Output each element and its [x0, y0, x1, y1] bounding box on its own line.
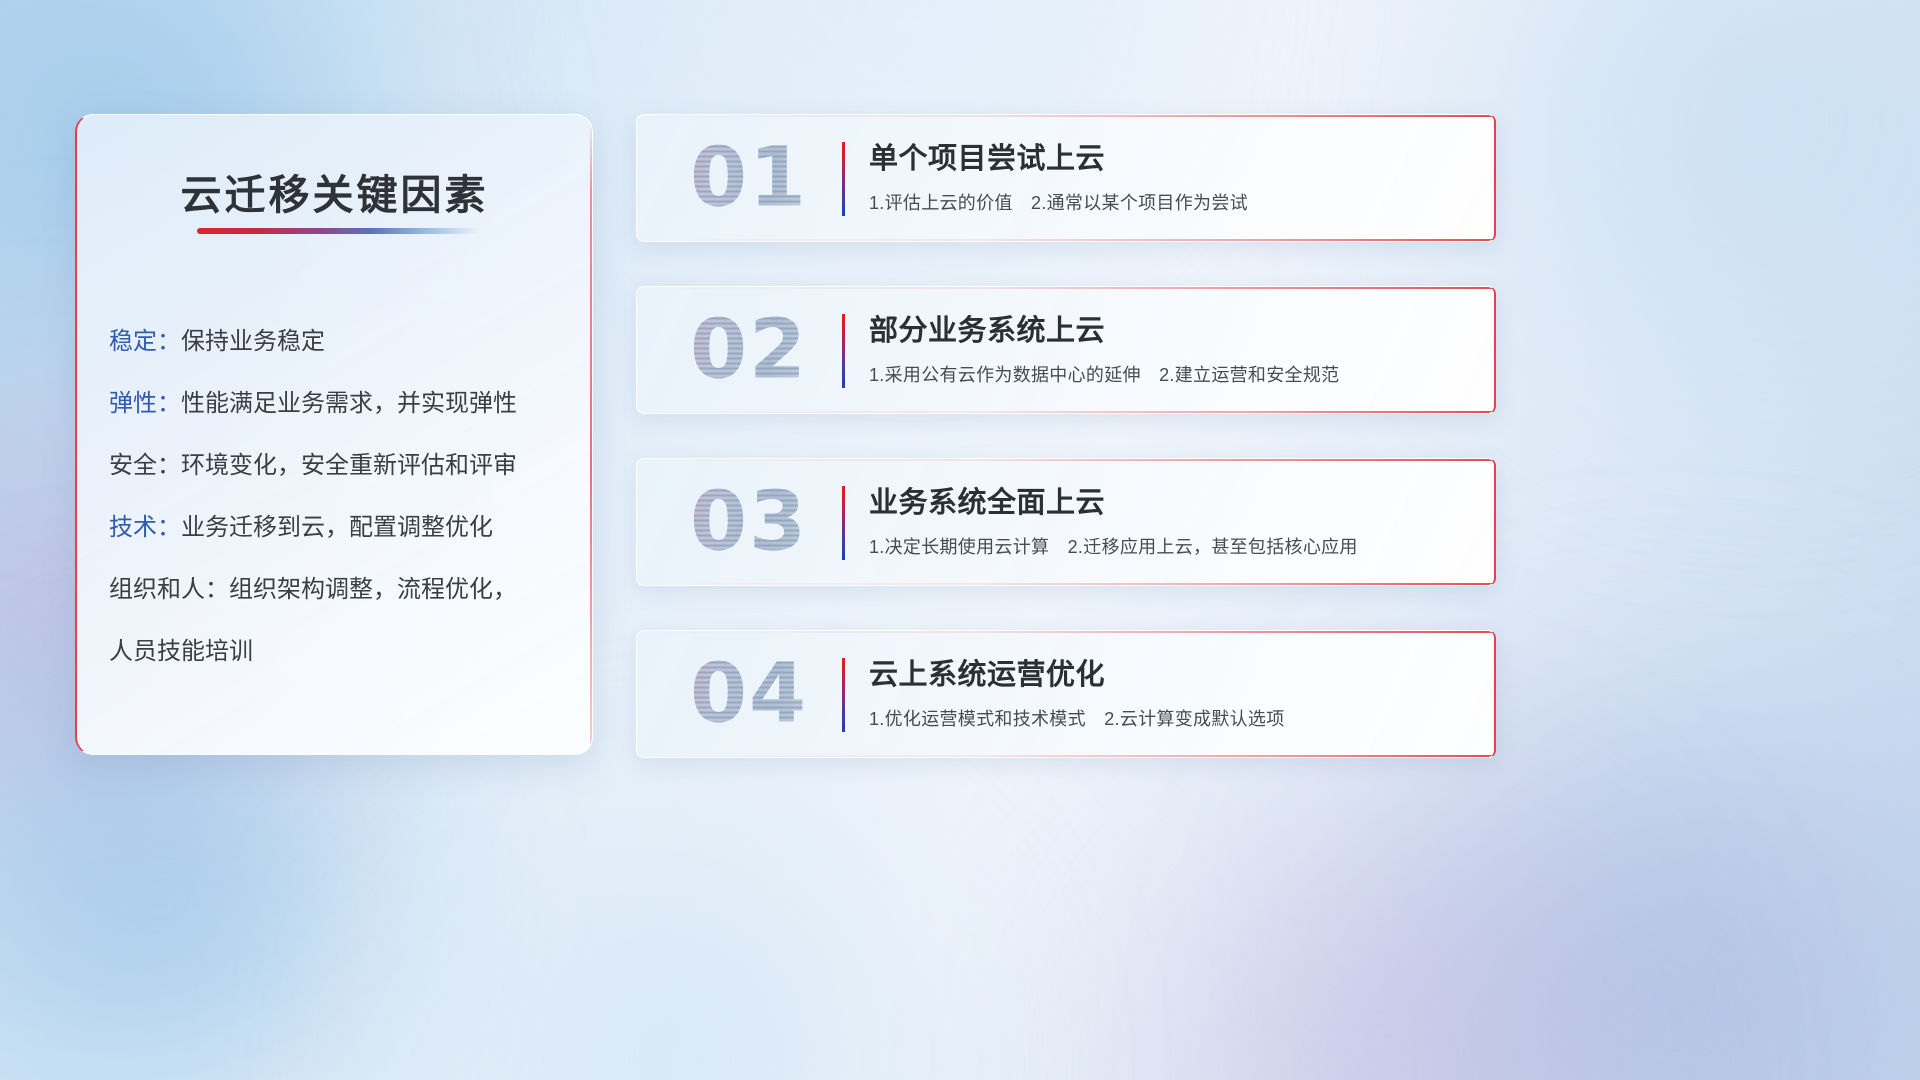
- stage-title: 云上系统运营优化: [869, 655, 1474, 695]
- stage-body: 云上系统运营优化 1.优化运营模式和技术模式 2.云计算变成默认选项: [869, 655, 1474, 731]
- stage-divider-accent: [842, 658, 845, 732]
- stage-description: 1.评估上云的价值 2.通常以某个项目作为尝试: [869, 189, 1474, 215]
- stage-body: 部分业务系统上云 1.采用公有云作为数据中心的延伸 2.建立运营和安全规范: [869, 311, 1474, 387]
- stage-card-02[interactable]: 02 部分业务系统上云 1.采用公有云作为数据中心的延伸 2.建立运营和安全规范: [636, 286, 1496, 414]
- slide-content: 云迁移关键因素 稳定：保持业务稳定 弹性：性能满足业务需求，并实现弹性 安全：环…: [0, 0, 1920, 1080]
- factor-text: 环境变化，安全重新评估和评审: [181, 452, 517, 479]
- stage-card-04[interactable]: 04 云上系统运营优化 1.优化运营模式和技术模式 2.云计算变成默认选项: [636, 630, 1496, 758]
- list-item: 安全：环境变化，安全重新评估和评审: [77, 435, 592, 497]
- key-factors-list: 稳定：保持业务稳定 弹性：性能满足业务需求，并实现弹性 安全：环境变化，安全重新…: [77, 311, 592, 683]
- page-title: 云迁移关键因素: [77, 161, 592, 221]
- factor-text: 人员技能培训: [109, 638, 253, 665]
- stage-divider-accent: [842, 314, 845, 388]
- stage-number: 02: [659, 303, 839, 398]
- title-underline-accent: [197, 228, 479, 234]
- stage-description: 1.决定长期使用云计算 2.迁移应用上云，甚至包括核心应用: [869, 533, 1474, 559]
- stage-number: 04: [659, 647, 839, 742]
- list-item-continuation: 人员技能培训: [77, 621, 592, 683]
- factor-text: 性能满足业务需求，并实现弹性: [181, 390, 517, 417]
- factor-label: 弹性：: [109, 390, 181, 417]
- stage-card-01[interactable]: 01 单个项目尝试上云 1.评估上云的价值 2.通常以某个项目作为尝试: [636, 114, 1496, 242]
- factor-label: 技术：: [109, 514, 181, 541]
- stage-divider-accent: [842, 142, 845, 216]
- stage-card-03[interactable]: 03 业务系统全面上云 1.决定长期使用云计算 2.迁移应用上云，甚至包括核心应…: [636, 458, 1496, 586]
- list-item: 稳定：保持业务稳定: [77, 311, 592, 373]
- stage-number: 03: [659, 475, 839, 570]
- stage-title: 单个项目尝试上云: [869, 139, 1474, 179]
- stage-description: 1.采用公有云作为数据中心的延伸 2.建立运营和安全规范: [869, 361, 1474, 387]
- factor-text: 保持业务稳定: [181, 328, 325, 355]
- factor-label: 稳定：: [109, 328, 181, 355]
- factor-label: 安全：: [109, 452, 181, 479]
- list-item: 弹性：性能满足业务需求，并实现弹性: [77, 373, 592, 435]
- stage-body: 业务系统全面上云 1.决定长期使用云计算 2.迁移应用上云，甚至包括核心应用: [869, 483, 1474, 559]
- factor-text: 组织架构调整，流程优化，: [229, 576, 517, 603]
- list-item: 技术：业务迁移到云，配置调整优化: [77, 497, 592, 559]
- stage-divider-accent: [842, 486, 845, 560]
- list-item: 组织和人：组织架构调整，流程优化，: [77, 559, 592, 621]
- stage-description: 1.优化运营模式和技术模式 2.云计算变成默认选项: [869, 705, 1474, 731]
- stage-number: 01: [659, 131, 839, 226]
- factor-text: 业务迁移到云，配置调整优化: [181, 514, 493, 541]
- stage-title: 部分业务系统上云: [869, 311, 1474, 351]
- key-factors-panel: 云迁移关键因素 稳定：保持业务稳定 弹性：性能满足业务需求，并实现弹性 安全：环…: [75, 114, 593, 755]
- factor-label: 组织和人：: [109, 576, 229, 603]
- stage-title: 业务系统全面上云: [869, 483, 1474, 523]
- stage-body: 单个项目尝试上云 1.评估上云的价值 2.通常以某个项目作为尝试: [869, 139, 1474, 215]
